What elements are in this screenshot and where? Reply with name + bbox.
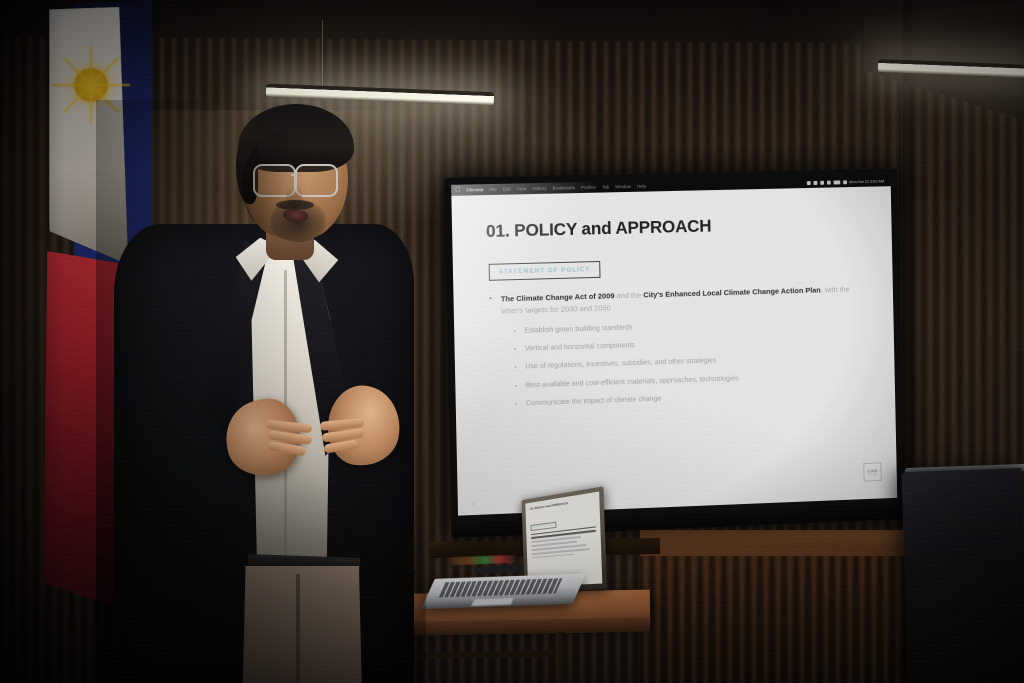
credenza-front-panel xyxy=(640,556,930,683)
menu-item-bookmarks[interactable]: Bookmarks xyxy=(552,185,575,190)
wifi-icon[interactable] xyxy=(813,180,817,184)
menu-bar-status-area[interactable]: Mon Oct 21 9:52 AM xyxy=(806,178,887,185)
flag-sun-ray xyxy=(90,84,92,124)
sub-bullet-text: Communicate the impact of climate change xyxy=(526,394,661,408)
flag-sun-ray xyxy=(90,46,92,86)
menu-bar-clock[interactable]: Mon Oct 21 9:52 AM xyxy=(849,179,884,185)
sub-bullet-marker-icon: • xyxy=(514,347,516,354)
laptop-trackpad[interactable] xyxy=(471,597,515,606)
presenter-moustache xyxy=(276,200,314,210)
sub-bullet-list: • Establish green building standards • V… xyxy=(514,315,871,408)
main-bullet-plain-1: and the xyxy=(614,290,643,300)
sub-bullet-text: Vertical and horizontal components xyxy=(525,340,635,353)
slide-logo-line-2: LEGAL xyxy=(868,473,877,476)
list-item: • Best available and cost-efficient mate… xyxy=(515,369,870,390)
menu-item-chrome[interactable]: Chrome xyxy=(466,187,483,192)
eyeglasses-bridge xyxy=(291,174,297,176)
main-bullet: • The Climate Change Act of 2009 and the… xyxy=(489,283,868,318)
trouser-crease xyxy=(296,574,300,683)
pendant-cord xyxy=(322,20,323,92)
menu-item-history[interactable]: History xyxy=(532,186,546,191)
list-item: • Use of regulations, incentives, subsid… xyxy=(515,351,870,372)
wall-mounted-display[interactable]:  Chrome File Edit View History Bookmark… xyxy=(444,169,904,538)
closed-laptop[interactable] xyxy=(901,468,1024,683)
menu-item-file[interactable]: File xyxy=(489,187,497,192)
presentation-slide[interactable]: 01. POLICY and APPROACH STATEMENT OF POL… xyxy=(451,186,897,515)
macbook-laptop[interactable]: 01. POLICY and APPROACH STATEMENT OF POL… xyxy=(427,498,615,613)
list-item: • Vertical and horizontal components xyxy=(514,333,869,354)
sub-bullet-marker-icon: • xyxy=(515,365,517,372)
presentation-room-photo:  Chrome File Edit View History Bookmark… xyxy=(0,0,1024,683)
menu-item-tab[interactable]: Tab xyxy=(602,184,609,189)
bullet-marker-icon: • xyxy=(489,293,492,317)
statement-of-policy-chip: STATEMENT OF POLICY xyxy=(489,261,601,280)
main-bullet-text: The Climate Change Act of 2009 and the C… xyxy=(501,283,869,317)
laptop-slide-chip: STATEMENT OF POLICY xyxy=(531,522,556,531)
slide-logo: CAO LEGAL xyxy=(863,462,881,481)
sub-bullet-marker-icon: • xyxy=(515,401,517,408)
laptop-screen[interactable]: 01. POLICY and APPROACH STATEMENT OF POL… xyxy=(525,492,602,587)
control-center-icon[interactable] xyxy=(826,180,830,184)
main-bullet-emph-2: City's Enhanced Local Climate Change Act… xyxy=(643,285,821,299)
slide-title: 01. POLICY and APPROACH xyxy=(486,212,867,242)
menu-item-edit[interactable]: Edit xyxy=(503,187,511,192)
laptop-slide-line xyxy=(532,554,575,559)
sub-bullet-text: Establish green building standards xyxy=(524,322,632,335)
credenza-top xyxy=(640,530,930,547)
sub-bullet-marker-icon: • xyxy=(515,383,517,390)
flag-sun-ray xyxy=(90,84,130,86)
list-item: • Establish green building standards xyxy=(514,315,869,335)
menu-item-window[interactable]: Window xyxy=(615,184,631,189)
laptop-slide-title: 01. POLICY and APPROACH xyxy=(530,497,595,511)
menu-item-help[interactable]: Help xyxy=(637,184,646,189)
presenter-trousers xyxy=(238,566,364,683)
presenter xyxy=(96,100,426,683)
list-item: • Communicate the impact of climate chan… xyxy=(515,386,870,408)
bluetooth-icon[interactable] xyxy=(820,180,824,184)
menu-item-view[interactable]: View xyxy=(517,186,527,191)
user-icon[interactable] xyxy=(843,180,847,184)
sub-bullet-marker-icon: • xyxy=(514,329,516,336)
search-icon[interactable] xyxy=(833,180,840,184)
sub-bullet-text: Best available and cost-efficient materi… xyxy=(526,373,739,390)
battery-icon[interactable] xyxy=(806,181,810,185)
main-bullet-emph-1: The Climate Change Act of 2009 xyxy=(501,291,615,303)
display-screen[interactable]:  Chrome File Edit View History Bookmark… xyxy=(451,175,897,515)
sub-bullet-text: Use of regulations, incentives, subsidie… xyxy=(525,356,716,372)
menu-item-profiles[interactable]: Profiles xyxy=(581,185,596,190)
flag-sun-ray xyxy=(52,84,92,86)
table-leg-right xyxy=(556,632,565,683)
apple-icon[interactable]:  xyxy=(455,187,460,194)
